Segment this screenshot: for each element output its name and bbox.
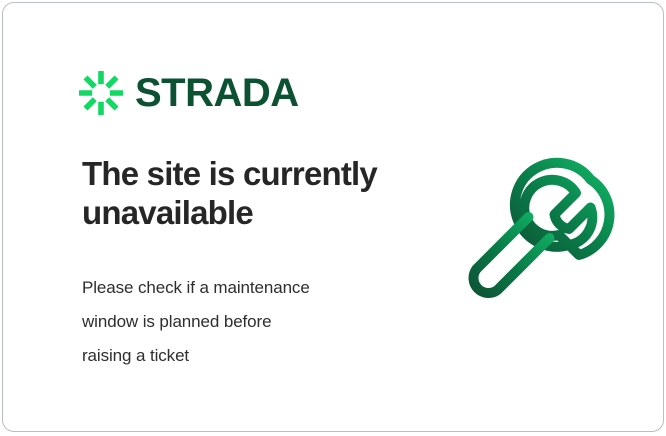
page-description: Please check if a maintenance window is … (82, 271, 392, 373)
strada-asterisk-icon (79, 71, 123, 115)
description-line: raising a ticket (82, 339, 392, 373)
brand-wordmark: STRADA (135, 73, 299, 113)
status-card: STRADA The site is currently unavailable… (2, 2, 664, 432)
page-title: The site is currently unavailable (82, 155, 422, 233)
wrench-icon (458, 153, 618, 313)
description-line: Please check if a maintenance (82, 271, 392, 305)
brand-logo: STRADA (79, 71, 299, 115)
description-line: window is planned before (82, 305, 392, 339)
error-page: STRADA The site is currently unavailable… (0, 0, 666, 436)
